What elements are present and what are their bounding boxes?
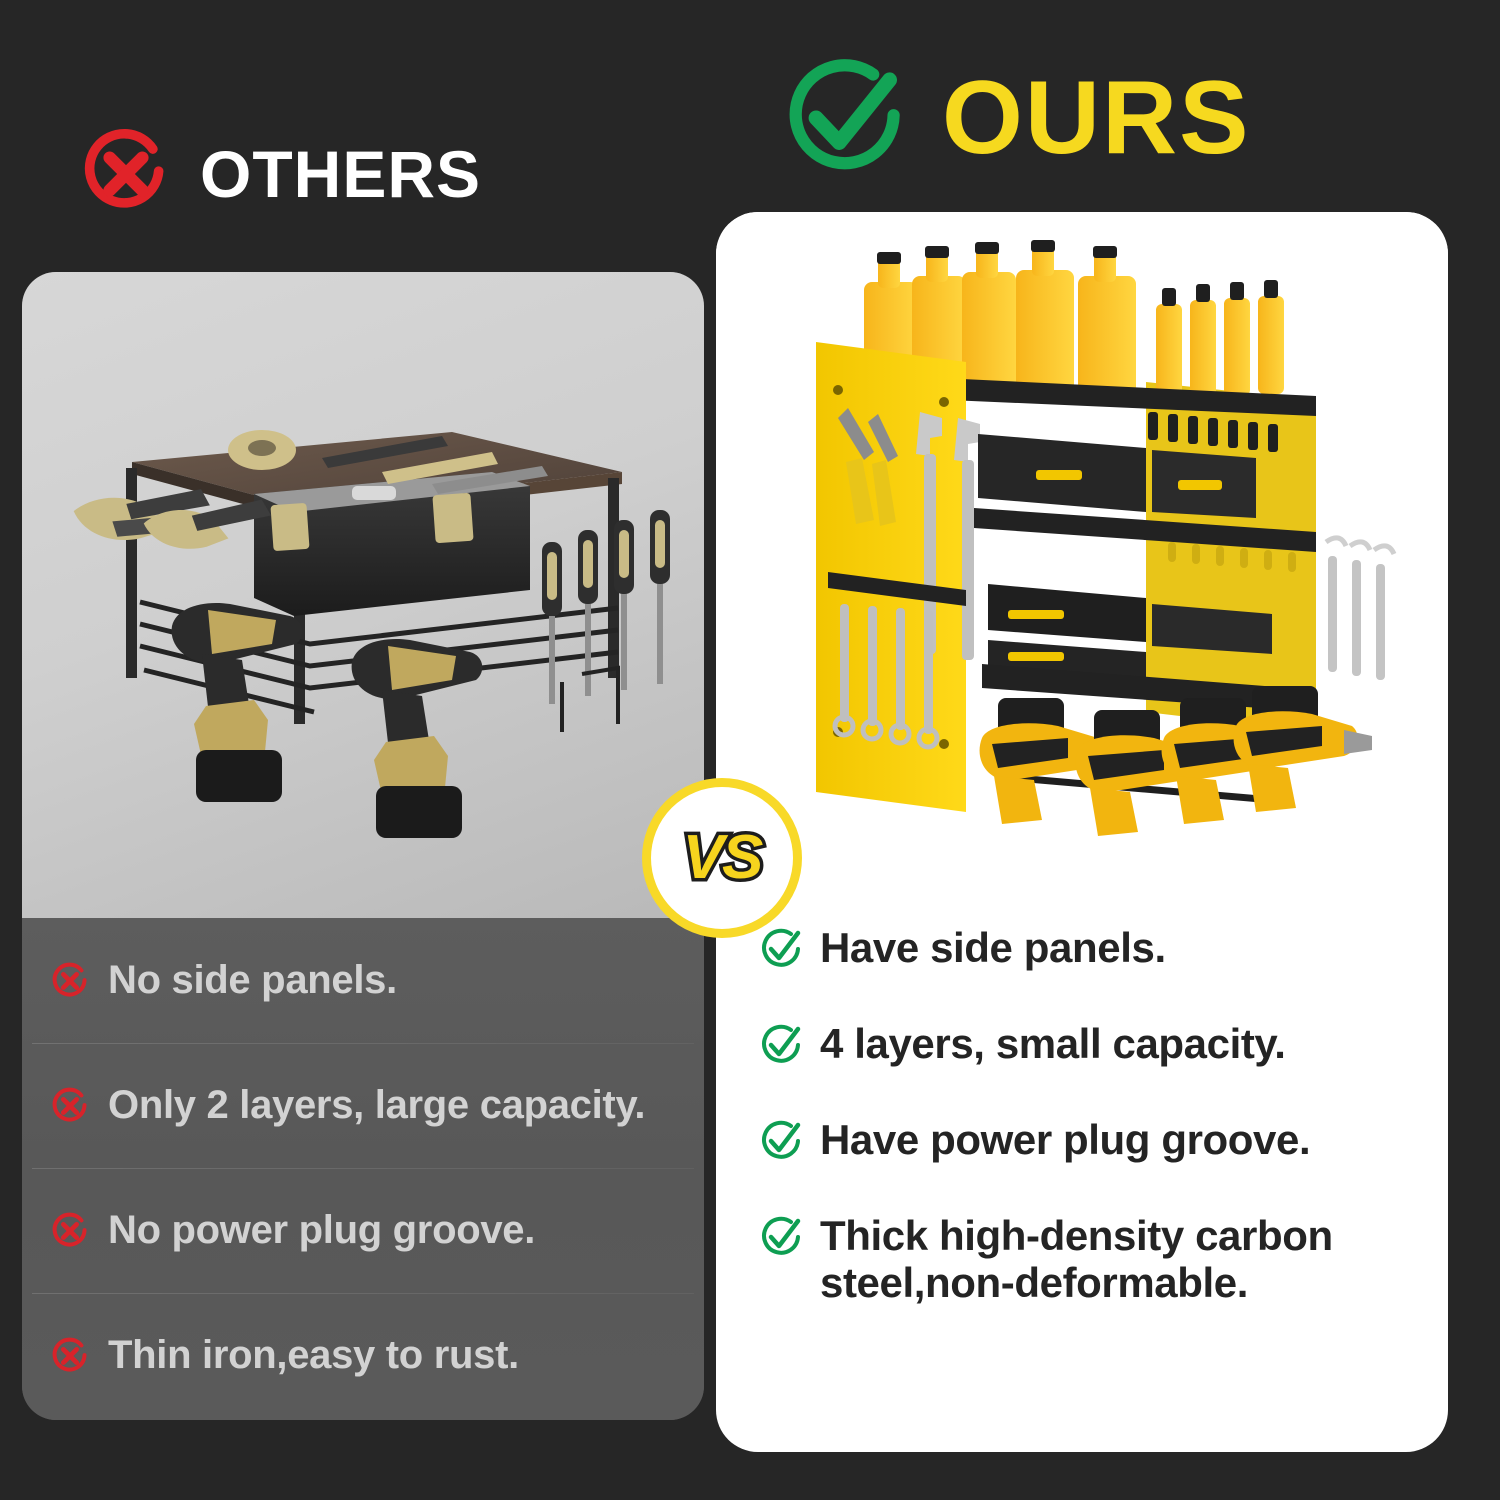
ours-header: OURS — [778, 50, 1250, 186]
list-item-label: 4 layers, small capacity. — [820, 1020, 1286, 1067]
circle-check-icon — [756, 1020, 806, 1070]
ours-product-image — [716, 212, 1448, 912]
list-item-label: Have side panels. — [820, 924, 1166, 971]
comparison-infographic: OTHERS OURS — [0, 0, 1500, 1500]
circle-x-icon — [48, 959, 92, 1003]
circle-check-icon — [756, 1212, 806, 1262]
circle-x-icon — [48, 1334, 92, 1378]
list-item: Have power plug groove. — [756, 1116, 1424, 1166]
ours-title: OURS — [942, 66, 1250, 170]
list-item-label: No power plug groove. — [108, 1208, 535, 1253]
ours-feature-list: Have side panels. 4 layers, small capaci… — [756, 924, 1424, 1352]
others-product-image — [22, 272, 704, 918]
list-item: Thin iron,easy to rust. — [22, 1293, 704, 1418]
list-item: Only 2 layers, large capacity. — [22, 1043, 704, 1168]
circle-check-icon — [756, 1116, 806, 1166]
list-item: Thick high-density carbon steel,non-defo… — [756, 1212, 1424, 1306]
list-item: No side panels. — [22, 918, 704, 1043]
circle-check-icon — [756, 924, 806, 974]
others-panel: No side panels. Only 2 layers, large cap… — [22, 272, 704, 1420]
others-header: OTHERS — [78, 126, 481, 222]
list-item: No power plug groove. — [22, 1168, 704, 1293]
list-item-label: No side panels. — [108, 958, 397, 1003]
list-item: 4 layers, small capacity. — [756, 1020, 1424, 1070]
others-feature-list: No side panels. Only 2 layers, large cap… — [22, 918, 704, 1420]
circle-x-icon — [48, 1084, 92, 1128]
versus-badge: VS — [642, 778, 802, 938]
list-item-label: Only 2 layers, large capacity. — [108, 1083, 645, 1128]
list-item-label: Have power plug groove. — [820, 1116, 1310, 1163]
others-title: OTHERS — [200, 141, 481, 207]
circle-check-icon — [778, 50, 914, 186]
ours-panel: Have side panels. 4 layers, small capaci… — [716, 212, 1448, 1452]
circle-x-icon — [48, 1209, 92, 1253]
versus-label: VS — [683, 827, 762, 889]
list-item-label: Thin iron,easy to rust. — [108, 1333, 519, 1378]
circle-x-icon — [78, 126, 174, 222]
list-item-label: Thick high-density carbon steel,non-defo… — [820, 1212, 1424, 1306]
list-item: Have side panels. — [756, 924, 1424, 974]
